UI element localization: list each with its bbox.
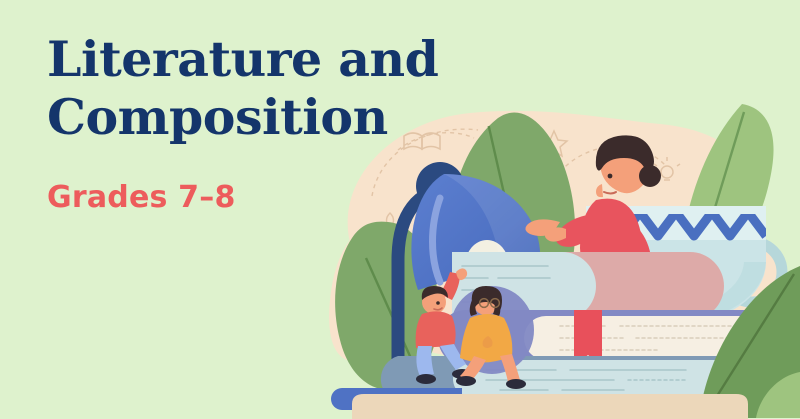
girl-shoe-left [456, 376, 476, 386]
floor-platform [352, 394, 748, 419]
course-banner: Literature and Composition Grades 7–8 [0, 0, 800, 419]
page-title: Literature and Composition [47, 30, 487, 146]
banner-text-block: Literature and Composition Grades 7–8 [47, 30, 487, 216]
woman-hair-bun [639, 165, 661, 187]
girl-shoe-right [506, 379, 526, 389]
boy-shirt [416, 311, 456, 348]
grade-range-subtitle: Grades 7–8 [47, 180, 487, 216]
boy-shoe-left [416, 374, 436, 384]
